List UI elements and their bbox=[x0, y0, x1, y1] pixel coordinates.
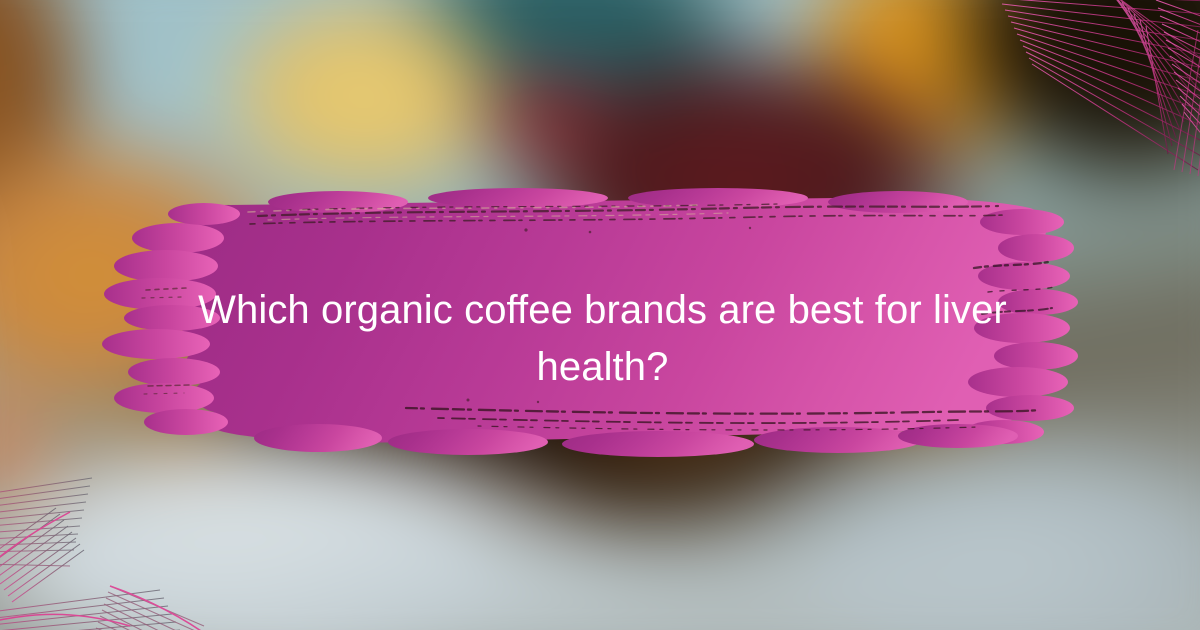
bg-blob-bottom-wash bbox=[0, 500, 1200, 630]
bg-blob-red-berry bbox=[460, 50, 630, 180]
hero-card: Which organic coffee brands are best for… bbox=[0, 0, 1200, 630]
headline-text: Which organic coffee brands are best for… bbox=[175, 282, 1030, 396]
